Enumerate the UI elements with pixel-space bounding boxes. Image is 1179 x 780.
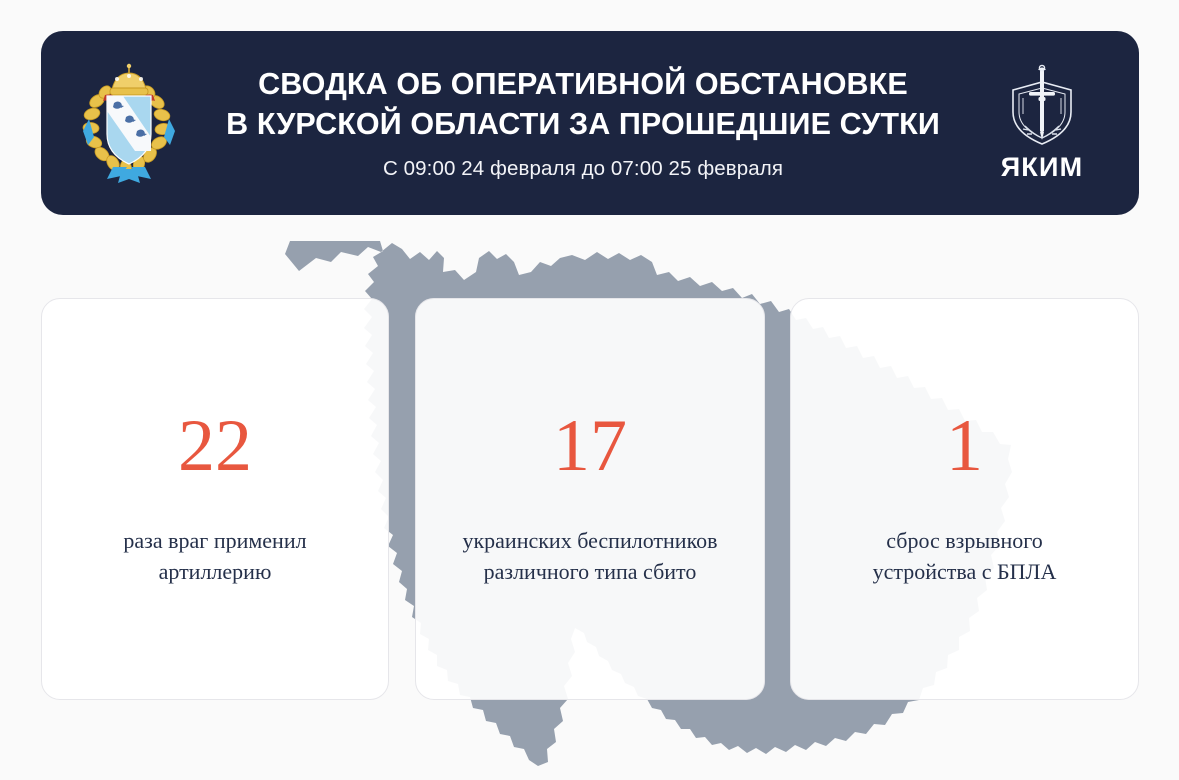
stat-value: 17 [553,411,627,481]
stat-value: 1 [946,411,983,481]
stat-value: 22 [178,411,252,481]
stat-label: сброс взрывного устройства с БПЛА [873,525,1057,587]
brand-block: ЯКИМ [983,64,1101,183]
header-text-block: СВОДКА ОБ ОПЕРАТИВНОЙ ОБСТАНОВКЕ В КУРСК… [183,65,983,180]
stat-label: раза враг применил артиллерию [123,525,306,587]
infographic-page: СВОДКА ОБ ОПЕРАТИВНОЙ ОБСТАНОВКЕ В КУРСК… [0,0,1179,780]
stat-label: украинских беспилотников различного типа… [462,525,717,587]
kursk-oblast-coat-of-arms-icon [75,59,183,187]
stat-card-artillery: 22 раза враг применил артиллерию [41,298,389,700]
shield-sword-icon [1005,64,1079,150]
header-banner: СВОДКА ОБ ОПЕРАТИВНОЙ ОБСТАНОВКЕ В КУРСК… [41,31,1139,215]
page-title: СВОДКА ОБ ОПЕРАТИВНОЙ ОБСТАНОВКЕ В КУРСК… [189,65,977,143]
stat-card-drones-downed: 17 украинских беспилотников различного т… [415,298,765,700]
stat-card-explosive-drop: 1 сброс взрывного устройства с БПЛА [790,298,1139,700]
brand-name: ЯКИМ [1001,152,1084,183]
report-period: С 09:00 24 февраля до 07:00 25 февраля [189,157,977,181]
